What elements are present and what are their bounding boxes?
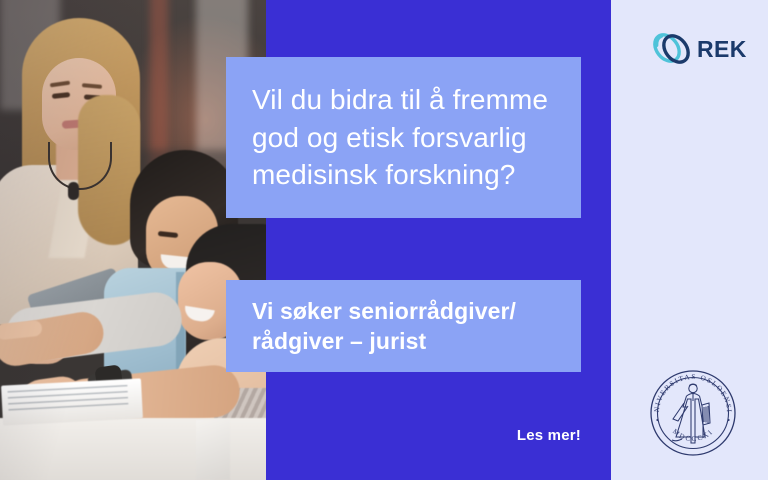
role-callout-box: Vi søker seniorrådgiver/ rådgiver – juri… [226, 280, 581, 372]
rek-logo[interactable]: REK [650, 26, 742, 72]
read-more-link[interactable]: Les mer! [430, 427, 581, 444]
seal-dot-left [656, 419, 658, 421]
headline-text: Vil du bidra til å fremme god og etisk f… [252, 81, 555, 194]
interlocking-rings-icon [650, 27, 694, 71]
rek-wordmark: REK [697, 38, 747, 61]
headline-callout-box: Vil du bidra til å fremme god og etisk f… [226, 57, 581, 218]
seal-dot-right [727, 419, 729, 421]
uio-seal: UNIVERSITAS OSLOENSIS MDCCCXI [643, 363, 743, 463]
role-title-text: Vi søker seniorrådgiver/ rådgiver – juri… [252, 296, 555, 357]
recruitment-banner: Vil du bidra til å fremme god og etisk f… [0, 0, 768, 480]
